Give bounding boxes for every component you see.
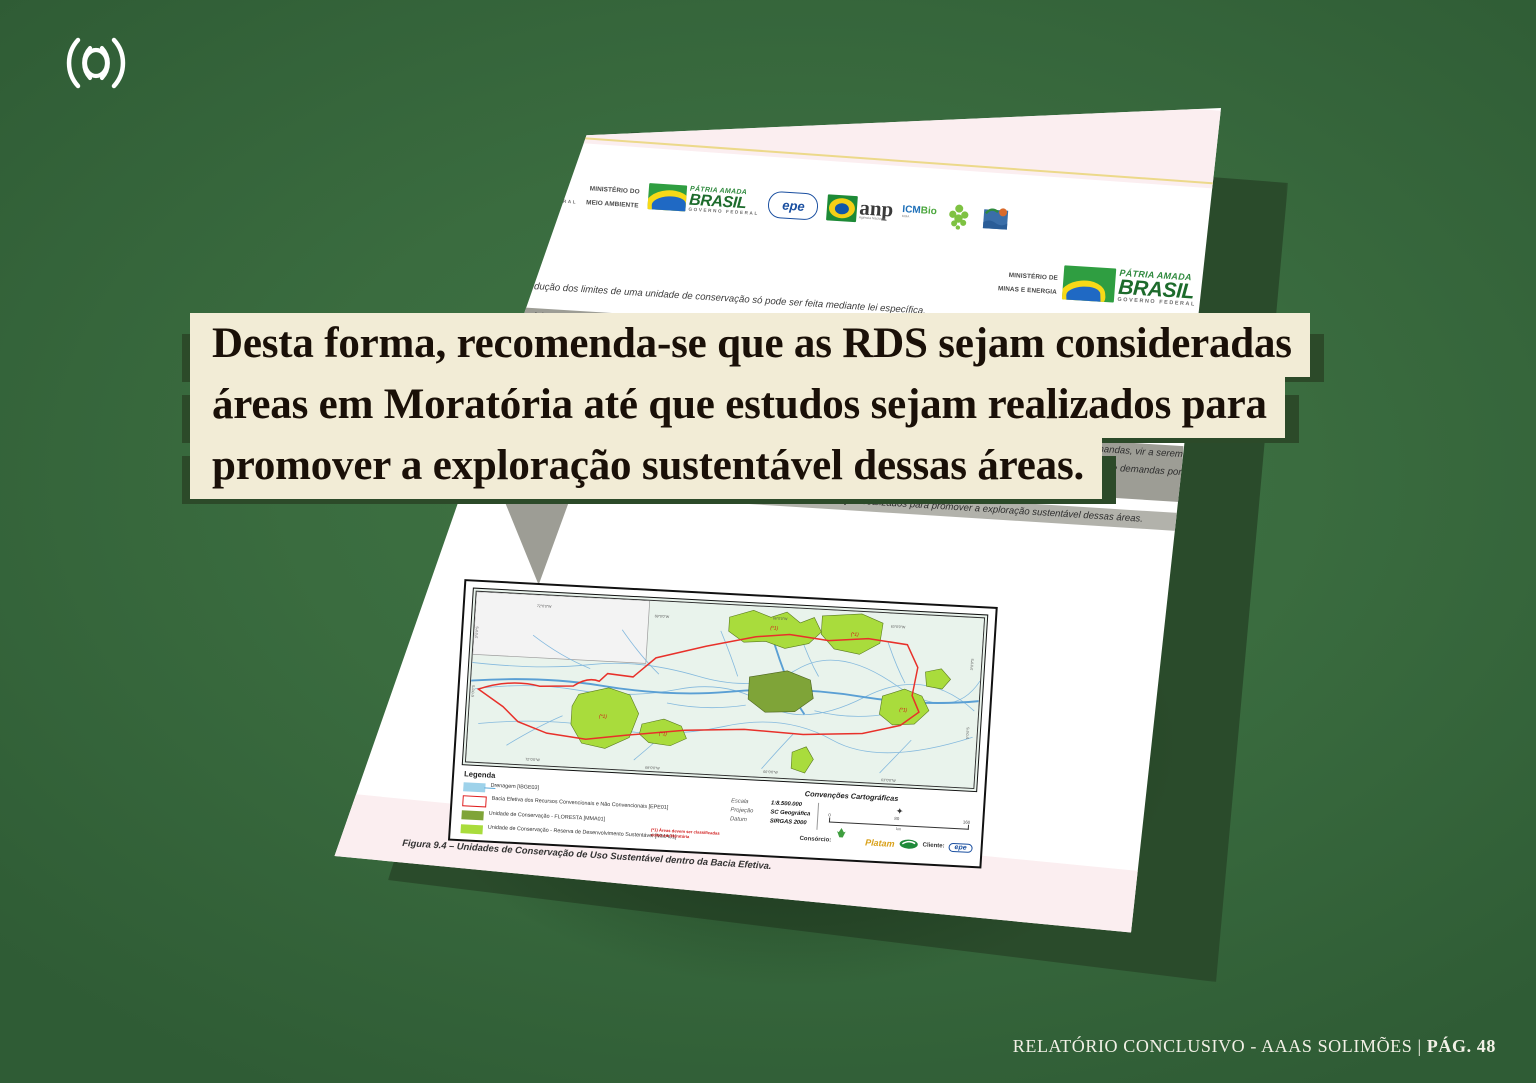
svg-text:72°0'0"W: 72°0'0"W (525, 757, 540, 762)
conv-key: Datum (730, 816, 764, 824)
anp-flag-icon (827, 194, 859, 222)
epe-label: epe (782, 197, 805, 213)
icmbio-leaf-icon (945, 201, 973, 231)
legend-label: Drenagem [IBGE03] (490, 783, 539, 793)
svg-text:(*1): (*1) (851, 632, 860, 639)
mma-line2: MEIO AMBIENTE (586, 199, 639, 209)
scale-tick: 0 (828, 812, 831, 817)
figure-map: (*1) (*1) (*1) (*1) (*1) 72°0'0"W 69°0'0… (448, 579, 998, 868)
legend-swatch-floresta (461, 811, 484, 821)
bio-label: Bio (920, 206, 937, 218)
ministry-title-label: MINISTÉRIO DE MINAS E ENERGIA (998, 264, 1059, 296)
svg-text:69°0'0"W: 69°0'0"W (655, 614, 670, 619)
svg-text:63°0'0"W: 63°0'0"W (891, 625, 906, 630)
ministry-title-block: MINISTÉRIO DE MINAS E ENERGIA PÁTRIA AMA… (997, 261, 1198, 308)
scale-tick: 80 (894, 816, 899, 821)
cliente-epe-logo: epe (948, 842, 973, 852)
mma-logo-icon (979, 203, 1011, 233)
conv-key: Escala (731, 798, 765, 806)
mt-line1: MINISTÉRIO DE (1008, 272, 1058, 282)
quote-line: promover a exploração sustentável dessas… (190, 442, 1102, 490)
legend-swatch-rds (460, 824, 483, 834)
platam-label: Platam (865, 837, 895, 849)
svg-text:5°0'0"S: 5°0'0"S (471, 684, 476, 697)
quote-line: áreas em Moratória até que estudos sejam… (190, 381, 1285, 429)
pull-quote: Desta forma, recomenda-se que as RDS sej… (190, 320, 1370, 503)
map-canvas: (*1) (*1) (*1) (*1) (*1) 72°0'0"W 69°0'0… (465, 591, 985, 789)
map-graphic: (*1) (*1) (*1) (*1) (*1) 72°0'0"W 69°0'0… (466, 592, 984, 788)
epe-logo-icon: epe (768, 190, 820, 220)
footer-page-number: PÁG. 48 (1427, 1036, 1496, 1056)
quote-line: Desta forma, recomenda-se que as RDS sej… (190, 320, 1310, 368)
mma-line1: MINISTÉRIO DO (590, 185, 640, 195)
icmbio-logo-icon: ICMBio MMA (902, 205, 937, 220)
map-frame: (*1) (*1) (*1) (*1) (*1) 72°0'0"W 69°0'0… (462, 588, 989, 793)
anp-logo-icon: anp Agência Nacional (827, 194, 895, 224)
consorcio-label: Consórcio: (799, 836, 831, 844)
svg-text:(*1): (*1) (899, 707, 908, 714)
svg-text:72°0'0"W: 72°0'0"W (537, 604, 552, 609)
svg-text:(*1): (*1) (659, 731, 668, 738)
svg-text:66°0'0"W: 66°0'0"W (763, 770, 778, 775)
mt-line2: MINAS E ENERGIA (998, 286, 1057, 297)
patria-amada-brasil-logo-3: PÁTRIA AMADA BRASIL GOVERNO FEDERAL (1062, 265, 1198, 308)
quote-line-text: Desta forma, recomenda-se que as RDS sej… (190, 313, 1310, 377)
svg-text:(*1): (*1) (770, 625, 779, 632)
legend-swatch-drenagem (463, 782, 486, 792)
document-page: MINISTÉRIO DE MINAS E ENERGIA PÁTRIA AMA… (330, 108, 1250, 988)
quote-line-text: áreas em Moratória até que estudos sejam… (190, 374, 1285, 438)
slide-canvas: MINISTÉRIO DE MINAS E ENERGIA PÁTRIA AMA… (0, 0, 1536, 1083)
brazil-flag-icon-3 (1062, 266, 1116, 303)
footer-report-title: RELATÓRIO CONCLUSIVO - AAAS SOLIMÕES | (1013, 1036, 1427, 1056)
conv-value: SC Geográfica (770, 809, 810, 817)
svg-text:63°0'0"W: 63°0'0"W (881, 778, 896, 783)
conv-value: 1:8.500.000 (771, 800, 802, 808)
conv-key: Projeção (730, 807, 764, 815)
brazil-flag-icon-2 (647, 183, 687, 211)
coppetec-icon (898, 838, 919, 852)
scale-tick: 160 (963, 819, 971, 824)
cliente-label: Cliente: (922, 842, 944, 849)
svg-text:(*1): (*1) (599, 714, 608, 721)
legend-swatch-bacia (462, 795, 487, 807)
patria-amada-brasil-logo-2: PÁTRIA AMADA BRASIL GOVERNO FEDERAL (647, 183, 760, 217)
svg-text:3°0'0"S: 3°0'0"S (475, 626, 480, 639)
svg-text:66°0'0"W: 66°0'0"W (773, 616, 788, 621)
footer-caption: RELATÓRIO CONCLUSIVO - AAAS SOLIMÕES | P… (1013, 1036, 1496, 1057)
svg-text:3°0'0"S: 3°0'0"S (970, 658, 975, 671)
ministerio-meio-ambiente-label: MINISTÉRIO DO MEIO AMBIENTE (586, 178, 641, 210)
broadcast-signal-icon (36, 24, 156, 102)
quote-line-text: promover a exploração sustentável dessas… (190, 435, 1102, 499)
svg-text:5°0'0"S: 5°0'0"S (966, 726, 971, 739)
platam-leaf-icon (834, 827, 862, 856)
svg-text:69°0'0"W: 69°0'0"W (645, 766, 660, 771)
